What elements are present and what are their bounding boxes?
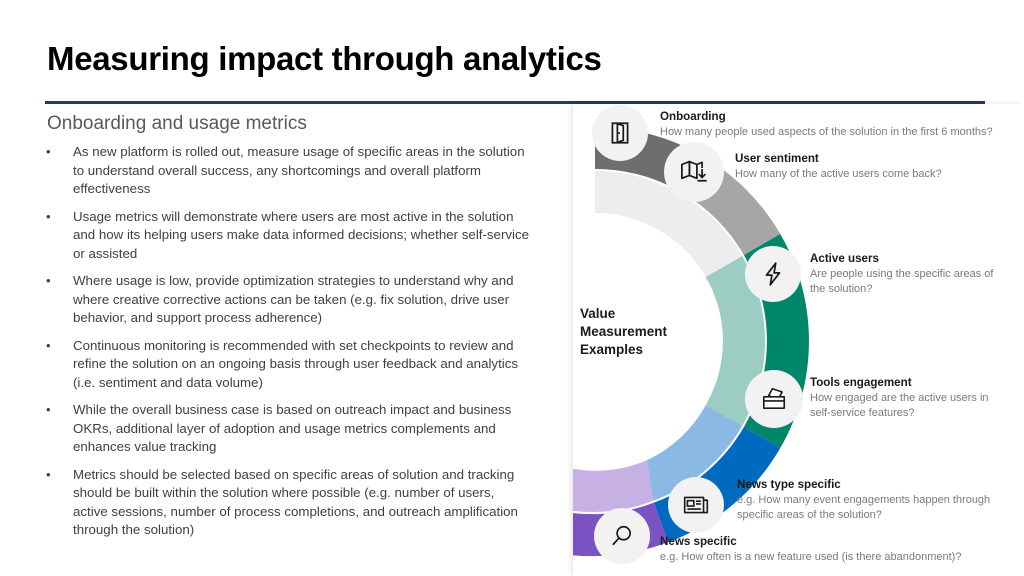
callout-title: Active users xyxy=(810,252,1010,266)
bullet-list: • As new platform is rolled out, measure… xyxy=(42,143,532,549)
list-item: • Usage metrics will demonstrate where u… xyxy=(42,208,532,264)
callout-icon-news-type[interactable] xyxy=(668,477,724,533)
callout-title: User sentiment xyxy=(735,152,1024,166)
callout-description: Are people using the specific areas of t… xyxy=(810,267,1010,296)
list-item-text: While the overall business case is based… xyxy=(73,401,532,457)
callout-description: How engaged are the active users in self… xyxy=(810,391,1010,420)
list-item-text: Where usage is low, provide optimization… xyxy=(73,272,532,328)
callout-icon-active-users[interactable] xyxy=(745,246,801,302)
callout-tools-engagement: Tools engagement How engaged are the act… xyxy=(810,376,1010,420)
bullet-marker-icon: • xyxy=(42,337,73,356)
callout-icon-tools-engagement[interactable] xyxy=(745,370,803,428)
door-icon xyxy=(607,120,633,146)
bolt-icon xyxy=(760,261,786,287)
slide-root: Measuring impact through analytics Onboa… xyxy=(0,0,1024,576)
bullet-marker-icon: • xyxy=(42,143,73,162)
bullet-marker-icon: • xyxy=(42,208,73,227)
callout-title: Tools engagement xyxy=(810,376,1010,390)
callout-description: How many people used aspects of the solu… xyxy=(660,125,1020,140)
callout-active-users: Active users Are people using the specif… xyxy=(810,252,1010,296)
map-download-icon xyxy=(679,157,709,187)
callout-title: Onboarding xyxy=(660,110,1020,124)
list-item-text: As new platform is rolled out, measure u… xyxy=(73,143,532,199)
callout-icon-user-sentiment[interactable] xyxy=(664,142,724,202)
list-item: • Continuous monitoring is recommended w… xyxy=(42,337,532,393)
donut-center-label: Value Measurement Examples xyxy=(580,305,700,359)
callout-description: e.g. How often is a new feature used (is… xyxy=(660,550,1020,565)
callout-icon-news-specific[interactable] xyxy=(594,508,650,564)
list-item: • Where usage is low, provide optimizati… xyxy=(42,272,532,328)
list-item: • As new platform is rolled out, measure… xyxy=(42,143,532,199)
magnifier-icon xyxy=(609,523,635,549)
callout-news-type-specific: News type specific e.g. How many event e… xyxy=(737,478,1007,522)
list-item-text: Metrics should be selected based on spec… xyxy=(73,466,532,540)
list-item: • While the overall business case is bas… xyxy=(42,401,532,457)
newspaper-icon xyxy=(682,491,710,519)
callout-user-sentiment: User sentiment How many of the active us… xyxy=(735,152,1024,182)
section-subtitle: Onboarding and usage metrics xyxy=(47,112,527,137)
list-item-text: Continuous monitoring is recommended wit… xyxy=(73,337,532,393)
ballot-box-icon xyxy=(760,385,788,413)
callout-onboarding: Onboarding How many people used aspects … xyxy=(660,110,1020,140)
list-item: • Metrics should be selected based on sp… xyxy=(42,466,532,540)
callout-title: News type specific xyxy=(737,478,1007,492)
callout-description: How many of the active users come back? xyxy=(735,167,1024,182)
callout-description: e.g. How many event engagements happen t… xyxy=(737,493,1007,522)
bullet-marker-icon: • xyxy=(42,466,73,485)
bullet-marker-icon: • xyxy=(42,272,73,291)
callout-title: News specific xyxy=(660,535,1020,549)
page-title: Measuring impact through analytics xyxy=(47,40,747,78)
list-item-text: Usage metrics will demonstrate where use… xyxy=(73,208,532,264)
donut-inner-segment-news-type xyxy=(573,460,653,512)
bullet-marker-icon: • xyxy=(42,401,73,420)
callout-news-specific: News specific e.g. How often is a new fe… xyxy=(660,535,1020,565)
callout-icon-onboarding[interactable] xyxy=(592,105,648,161)
